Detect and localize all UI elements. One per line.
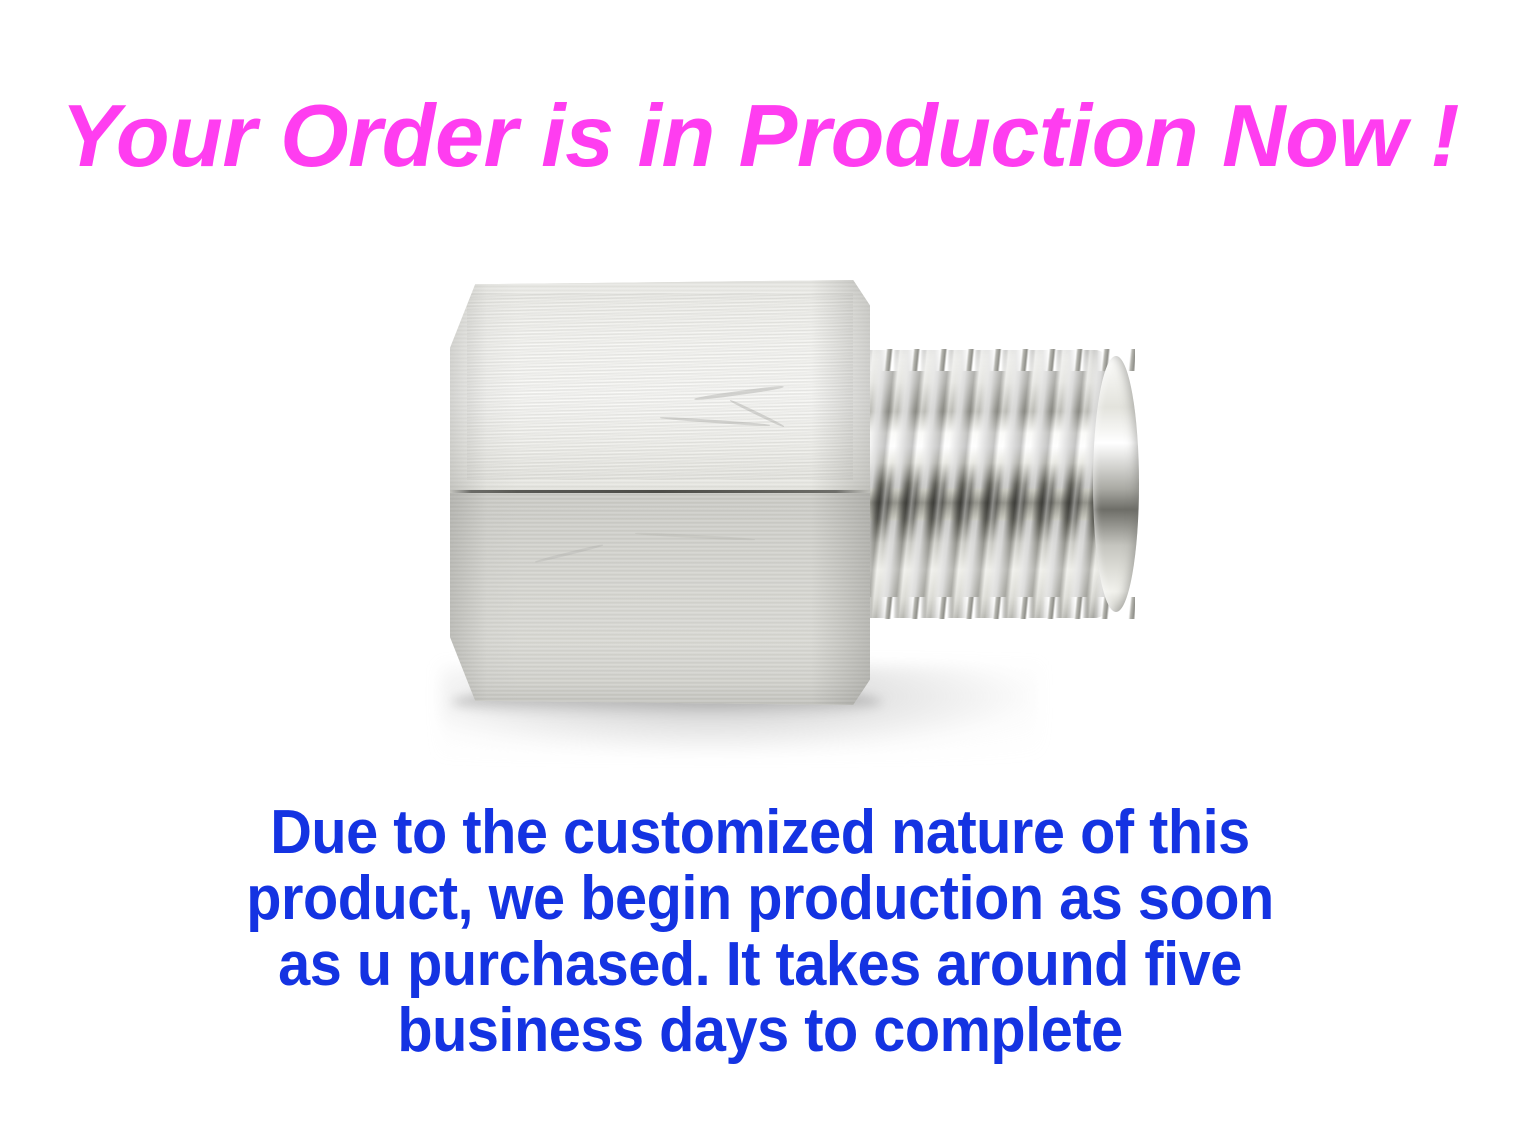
- body-copy-line: business days to complete: [53, 998, 1467, 1064]
- body-copy-line: as u purchased. It takes around five: [53, 932, 1467, 998]
- hex-nut-body: [450, 280, 870, 705]
- announcement-page: Your Order is in Production Now !: [0, 0, 1520, 1140]
- page-title: Your Order is in Production Now !: [0, 88, 1520, 184]
- product-photo: [380, 250, 1180, 770]
- thread-teeth-top: [850, 349, 1135, 371]
- body-copy: Due to the customized nature of this pro…: [53, 800, 1467, 1064]
- hex-shape: [450, 280, 870, 705]
- thread-end-cap: [1093, 356, 1139, 612]
- body-copy-line: product, we begin production as soon: [53, 866, 1467, 932]
- threaded-nipple: [850, 350, 1135, 618]
- hex-right-shading: [811, 280, 870, 705]
- thread-teeth-bottom: [850, 597, 1135, 619]
- hex-left-chamfer-shading: [450, 280, 517, 705]
- body-copy-line: Due to the customized nature of this: [53, 800, 1467, 866]
- hex-machining-lines: [467, 293, 853, 480]
